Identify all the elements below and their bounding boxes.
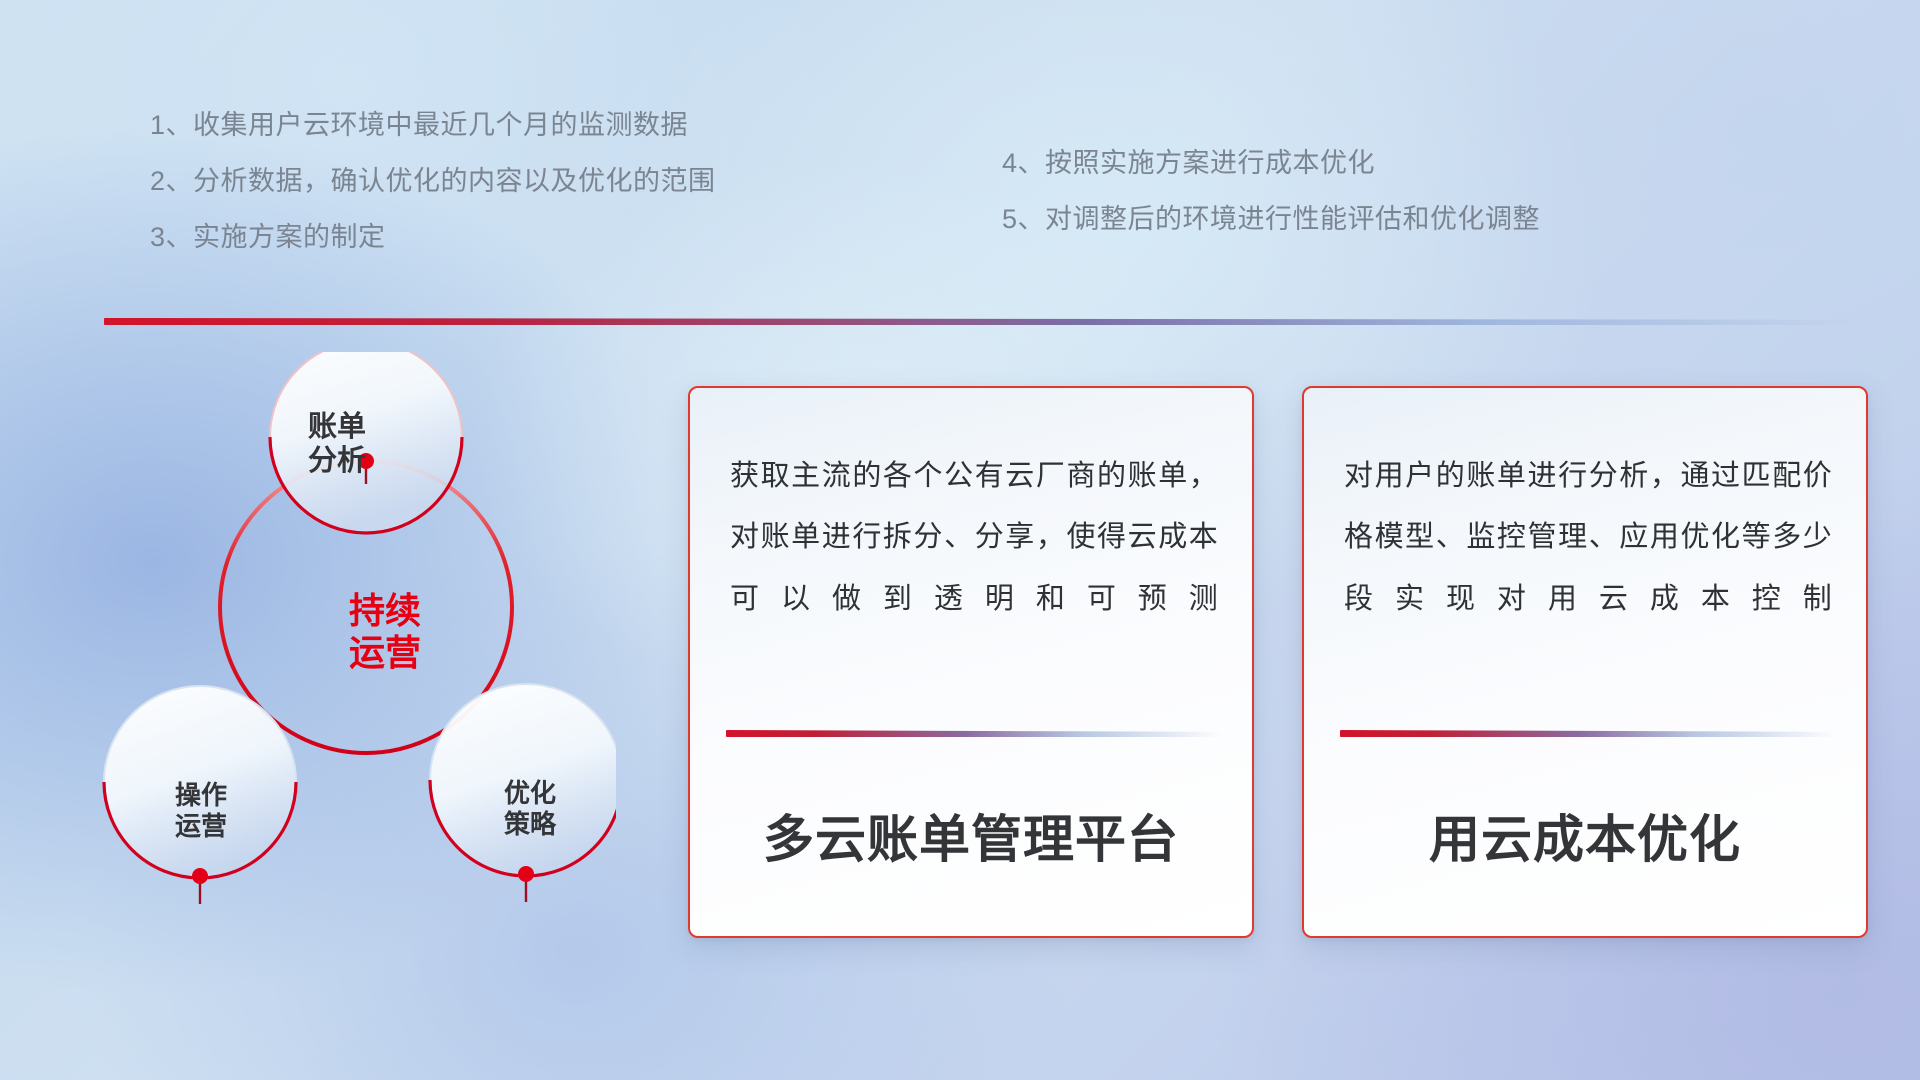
card-body-text: 获取主流的各个公有云厂商的账单，对账单进行拆分、分享，使得云成本可以做到透明和可… — [730, 446, 1218, 630]
diagram-label-operation: 操作 运营 — [126, 780, 276, 841]
diagram-label-continuous-ops: 持续 运营 — [310, 590, 460, 675]
bullet-item-2: 2、分析数据，确认优化的内容以及优化的范围 — [150, 168, 716, 195]
bullet-item-1: 1、收集用户云环境中最近几个月的监测数据 — [150, 112, 716, 139]
node-bottom-left — [192, 868, 208, 884]
card-accent-rule — [726, 730, 1222, 737]
card-title: 多云账单管理平台 — [690, 798, 1252, 872]
card-body-text: 对用户的账单进行分析，通过匹配价格模型、监控管理、应用优化等多少段实现对用云成本… — [1344, 446, 1832, 630]
bullet-item-3: 3、实施方案的制定 — [150, 224, 716, 251]
card-title: 用云成本优化 — [1304, 798, 1866, 872]
slide-root: 1、收集用户云环境中最近几个月的监测数据 2、分析数据，确认优化的内容以及优化的… — [0, 0, 1920, 1080]
bullet-item-4: 4、按照实施方案进行成本优化 — [1002, 150, 1540, 177]
card-multicloud-billing[interactable]: 获取主流的各个公有云厂商的账单，对账单进行拆分、分享，使得云成本可以做到透明和可… — [688, 386, 1254, 938]
card-cloud-cost-optimization[interactable]: 对用户的账单进行分析，通过匹配价格模型、监控管理、应用优化等多少段实现对用云成本… — [1302, 386, 1868, 938]
header-bullets-left: 1、收集用户云环境中最近几个月的监测数据 2、分析数据，确认优化的内容以及优化的… — [150, 112, 716, 280]
header-bullets-right: 4、按照实施方案进行成本优化 5、对调整后的环境进行性能评估和优化调整 — [1002, 150, 1540, 262]
header-divider — [104, 318, 1864, 325]
divider-bar — [104, 318, 1864, 325]
node-bottom-right — [518, 866, 534, 882]
diagram-label-bill-analysis: 账单 分析 — [252, 410, 422, 478]
card-accent-rule — [1340, 730, 1836, 737]
bullet-item-5: 5、对调整后的环境进行性能评估和优化调整 — [1002, 206, 1540, 233]
diagram-label-optimization: 优化 策略 — [455, 778, 605, 839]
